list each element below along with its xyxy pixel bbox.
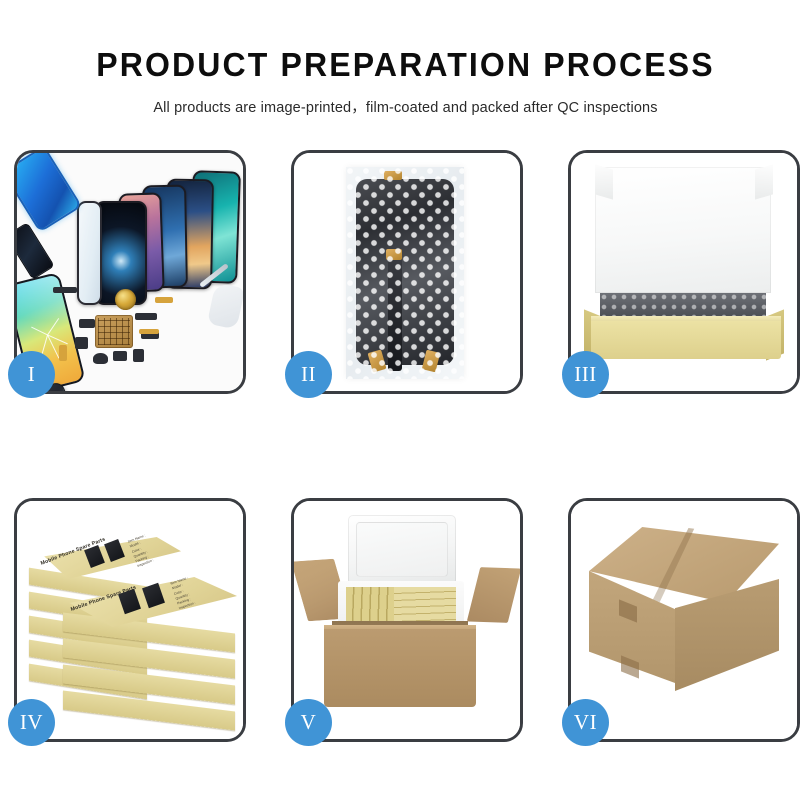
- box-lid-flap-left: [595, 164, 613, 199]
- process-step-panel: Mobile Phone Spare Parts Item Name :Mode…: [14, 498, 246, 742]
- step-image-sealed-shipping-carton: [571, 501, 797, 739]
- step-image-bubble-wrapped-screen-assembly: [294, 153, 520, 391]
- glass-panel: [77, 201, 102, 305]
- process-step-panel: V: [291, 498, 523, 742]
- gold-coil-part: [115, 289, 136, 310]
- box-stack: Mobile Phone Spare Parts Item Name :Mode…: [25, 519, 239, 719]
- small-part: [79, 319, 95, 328]
- small-part: [133, 349, 144, 362]
- process-step-panel: I: [14, 150, 246, 394]
- box-lid-flap-right: [755, 164, 773, 199]
- carton-front: [324, 629, 476, 707]
- small-part: [75, 337, 88, 349]
- bubble-texture: [346, 167, 464, 379]
- header: PRODUCT PREPARATION PROCESS All products…: [0, 0, 811, 117]
- flex-cable: [139, 329, 159, 334]
- step-badge: V: [285, 699, 332, 746]
- small-part: [113, 351, 127, 361]
- page-subtitle: All products are image-printed，film-coat…: [0, 96, 811, 117]
- small-part: [93, 353, 108, 364]
- step-badge: IV: [8, 699, 55, 746]
- step-badge: I: [8, 351, 55, 398]
- step-image-stacked-gold-boxes: Mobile Phone Spare Parts Item Name :Mode…: [17, 501, 243, 739]
- gold-boxes-inside: [394, 587, 456, 625]
- screw-tray: [95, 315, 133, 348]
- box-front-gold: [591, 321, 781, 359]
- flex-cable: [59, 345, 67, 361]
- process-step-grid: I II: [14, 150, 800, 742]
- step-badge: VI: [562, 699, 609, 746]
- box-lid-open: [595, 167, 771, 293]
- page-title: PRODUCT PREPARATION PROCESS: [12, 48, 799, 83]
- foam-box-lid: [348, 515, 456, 585]
- small-part: [53, 287, 77, 293]
- process-step-panel: VI: [568, 498, 800, 742]
- process-step-panel: III: [568, 150, 800, 394]
- flex-cable: [155, 297, 173, 303]
- process-step-panel: II: [291, 150, 523, 394]
- small-part: [135, 313, 157, 320]
- bubble-wrap-bag: [346, 167, 464, 379]
- step-image-carton-with-foam-insert: [294, 501, 520, 739]
- product-preparation-infographic: PRODUCT PREPARATION PROCESS All products…: [0, 0, 811, 811]
- step-image-phone-screens-and-spare-parts: [17, 153, 243, 391]
- step-image-open-gold-retail-box: [571, 153, 797, 391]
- step-badge: II: [285, 351, 332, 398]
- step-badge: III: [562, 351, 609, 398]
